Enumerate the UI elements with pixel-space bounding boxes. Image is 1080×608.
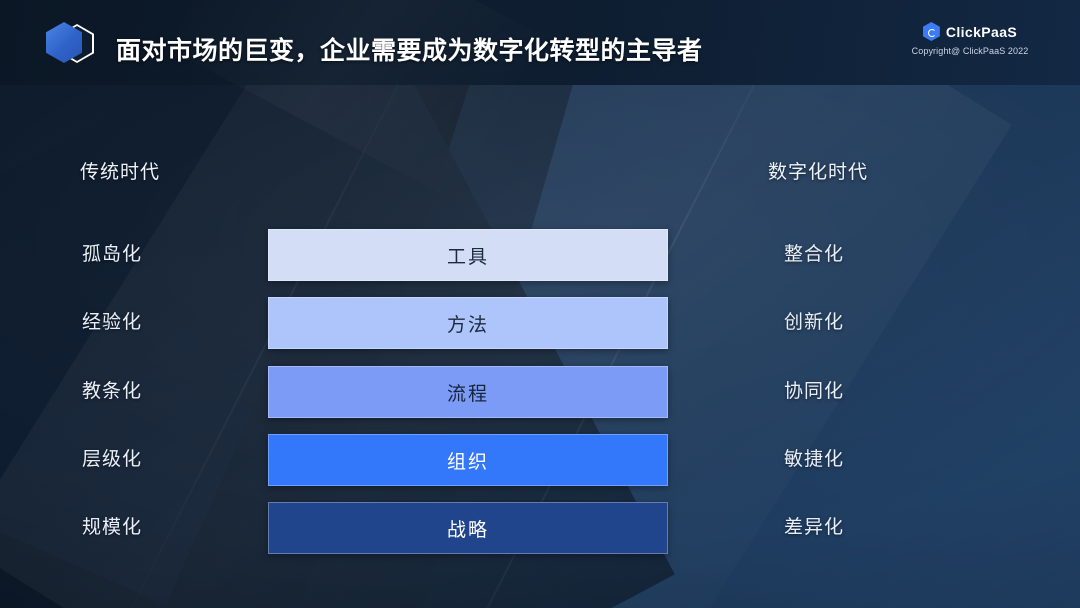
comparison-row: 规模化战略差异化 (0, 502, 1080, 554)
traditional-label: 经验化 (82, 297, 142, 349)
layer-chip[interactable]: 方法 (268, 297, 668, 349)
digital-label: 整合化 (784, 229, 844, 281)
slide-body: 传统时代 数字化时代 孤岛化工具整合化经验化方法创新化教条化流程协同化层级化组织… (0, 85, 1080, 608)
column-header-digital: 数字化时代 (768, 157, 868, 184)
column-header-traditional: 传统时代 (80, 157, 160, 184)
traditional-label: 规模化 (82, 502, 142, 554)
digital-label: 敏捷化 (784, 434, 844, 486)
layer-chip[interactable]: 工具 (268, 229, 668, 281)
layer-chip[interactable]: 流程 (268, 366, 668, 418)
brand-name: ClickPaaS (946, 24, 1017, 40)
brand-row: ClickPaaS (890, 22, 1050, 41)
copyright-text: Copyright@ ClickPaaS 2022 (890, 46, 1050, 56)
comparison-row: 孤岛化工具整合化 (0, 229, 1080, 281)
comparison-row: 教条化流程协同化 (0, 366, 1080, 418)
comparison-row: 层级化组织敏捷化 (0, 434, 1080, 486)
slide-header: 面对市场的巨变，企业需要成为数字化转型的主导者 ClickPaaS Copyri… (0, 0, 1080, 85)
traditional-label: 孤岛化 (82, 229, 142, 281)
digital-label: 创新化 (784, 297, 844, 349)
layer-chip[interactable]: 战略 (268, 502, 668, 554)
comparison-row: 经验化方法创新化 (0, 297, 1080, 349)
digital-label: 协同化 (784, 366, 844, 418)
traditional-label: 教条化 (82, 366, 142, 418)
hexagon-logo-icon (44, 21, 106, 65)
clickpaas-hexagon-mark-icon (923, 22, 940, 41)
slide-canvas: 面对市场的巨变，企业需要成为数字化转型的主导者 ClickPaaS Copyri… (0, 0, 1080, 608)
layer-chip[interactable]: 组织 (268, 434, 668, 486)
digital-label: 差异化 (784, 502, 844, 554)
traditional-label: 层级化 (82, 434, 142, 486)
page-title: 面对市场的巨变，企业需要成为数字化转型的主导者 (116, 31, 703, 67)
brand-block: ClickPaaS Copyright@ ClickPaaS 2022 (890, 22, 1050, 56)
